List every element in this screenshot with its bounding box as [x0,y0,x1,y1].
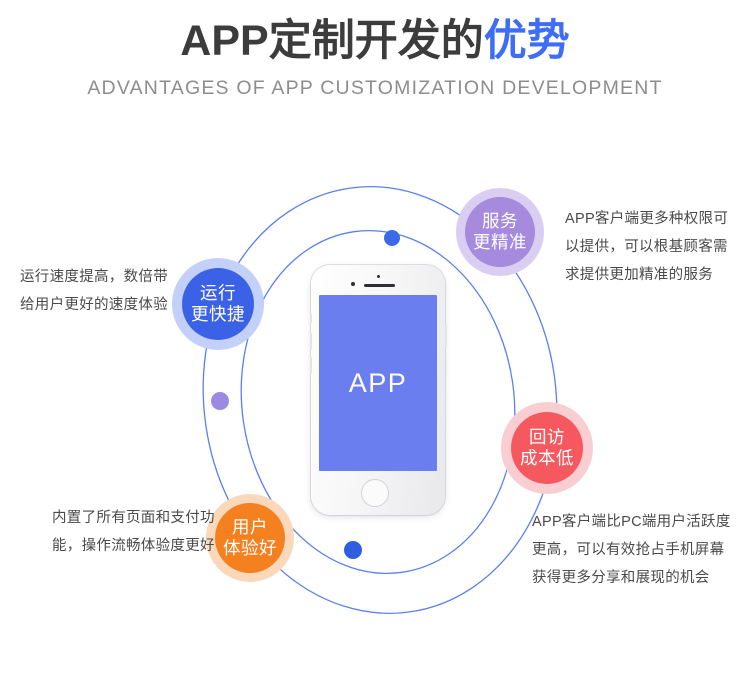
phone-screen: APP [319,295,437,471]
description-speed: 运行速度提高，数倍带给用户更好的速度体验 [20,263,180,319]
node-label-speed-line2: 更快捷 [191,304,245,325]
phone-power-button [445,325,447,347]
node-label-cost-line1: 回访 [529,427,565,448]
proximity-sensor-icon [377,275,380,278]
description-ux: 内置了所有页面和支付功能，操作流畅体验度更好 [52,504,220,560]
phone-screen-label: APP [349,368,408,399]
node-core-cost: 回访 成本低 [511,412,583,484]
home-button-icon [361,479,389,507]
orbit-dot-top [384,230,400,246]
phone-mute-switch [310,313,312,323]
node-label-speed-line1: 运行 [200,283,236,304]
node-label-service-line1: 服务 [482,211,518,232]
node-bubble-speed[interactable]: 运行 更快捷 [172,258,264,350]
node-bubble-cost[interactable]: 回访 成本低 [501,402,593,494]
phone-volume-down-button [310,357,312,374]
description-service: APP客户端更多种权限可以提供，可以根基顾客需求提供更加精准的服务 [565,205,740,289]
orbit-dot-left [211,392,229,410]
phone-mockup: APP [311,265,445,515]
phone-volume-up-button [310,333,312,350]
node-core-speed: 运行 更快捷 [182,268,254,340]
node-core-ux: 用户 体验好 [215,503,285,573]
description-cost: APP客户端比PC端用户活跃度更高，可以有效抢占手机屏幕获得更多分享和展现的机会 [532,508,732,592]
earpiece-speaker-icon [364,284,395,287]
orbit-dot-bottom [344,541,362,559]
node-label-cost-line2: 成本低 [520,448,574,469]
front-camera-icon [351,282,355,286]
node-core-service: 服务 更精准 [465,197,535,267]
node-label-ux-line2: 体验好 [223,538,277,559]
node-label-ux-line1: 用户 [232,517,268,538]
node-bubble-service[interactable]: 服务 更精准 [456,188,544,276]
node-label-service-line2: 更精准 [473,232,527,253]
infographic-page: APP定制开发的优势 ADVANTAGES OF APP CUSTOMIZATI… [0,0,750,675]
orbit-diagram: APP 运行 更快捷 服务 更精准 回访 成本 [0,0,750,675]
